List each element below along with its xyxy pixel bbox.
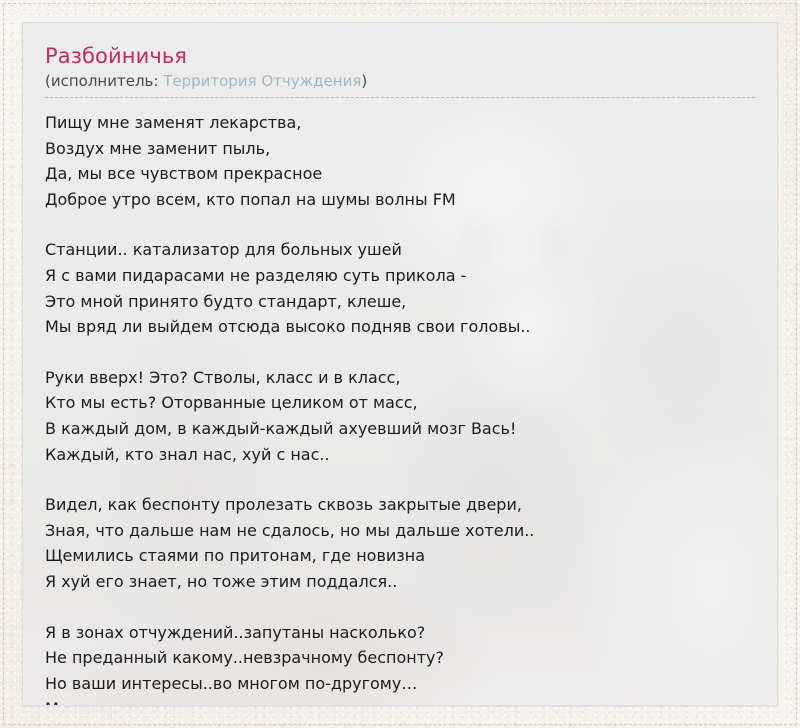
lyrics-line: Я с вами пидарасами не разделяю суть при… (45, 263, 755, 289)
lyrics-line: Зная, что дальше нам не сдалось, но мы д… (45, 518, 755, 544)
lyrics-line: Мы вряд ли выйдем отсюда высоко подняв с… (45, 314, 755, 340)
lyrics-card: Разбойничья (исполнитель: Территория Отч… (22, 22, 778, 706)
performer-line: (исполнитель: Территория Отчуждения) (45, 71, 755, 91)
lyrics-line: Это мной принято будто стандарт, клеше, (45, 289, 755, 315)
lyrics-body: Пищу мне заменят лекарства, Воздух мне з… (45, 98, 755, 706)
lyrics-verse: Я в зонах отчуждений..запутаны насколько… (45, 620, 755, 707)
lyrics-verse: Станции.. катализатор для больных ушей Я… (45, 237, 755, 339)
lyrics-line: Каждый, кто знал нас, хуй с нас.. (45, 442, 755, 468)
card-content: Разбойничья (исполнитель: Территория Отч… (23, 23, 777, 706)
performer-prefix-label: (исполнитель: (45, 72, 163, 90)
lyrics-line: Видел, как беспонту пролезать сквозь зак… (45, 492, 755, 518)
lyrics-line: Но ваши интересы..во многом по-другому… (45, 671, 755, 697)
lyrics-verse: Пищу мне заменят лекарства, Воздух мне з… (45, 110, 755, 212)
lyrics-line: Да, мы все чувством прекрасное (45, 161, 755, 187)
lyrics-line: Воздух мне заменит пыль, (45, 136, 755, 162)
performer-link[interactable]: Территория Отчуждения (163, 72, 361, 90)
lyrics-line: Я в зонах отчуждений..запутаны насколько… (45, 620, 755, 646)
lyrics-line: Руки вверх! Это? Стволы, класс и в класс… (45, 365, 755, 391)
lyrics-line: Пищу мне заменят лекарства, (45, 110, 755, 136)
lyrics-line: Станции.. катализатор для больных ушей (45, 237, 755, 263)
song-title: Разбойничья (45, 43, 755, 69)
lyrics-line: Доброе утро всем, кто попал на шумы волн… (45, 187, 755, 213)
lyrics-line: Мы прячем свои грезы, от взглядов незнак… (45, 696, 755, 706)
lyrics-verse: Руки вверх! Это? Стволы, класс и в класс… (45, 365, 755, 467)
lyrics-line: Не преданный какому..невзрачному беспонт… (45, 645, 755, 671)
performer-suffix-label: ) (361, 72, 367, 90)
lyrics-verse: Видел, как беспонту пролезать сквозь зак… (45, 492, 755, 594)
page-frame: Разбойничья (исполнитель: Территория Отч… (0, 0, 800, 728)
lyrics-line: Щемились стаями по притонам, где новизна (45, 543, 755, 569)
lyrics-line: В каждый дом, в каждый-каждый ахуевший м… (45, 416, 755, 442)
lyrics-line: Кто мы есть? Оторванные целиком от масс, (45, 390, 755, 416)
lyrics-line: Я хуй его знает, но тоже этим поддался.. (45, 569, 755, 595)
